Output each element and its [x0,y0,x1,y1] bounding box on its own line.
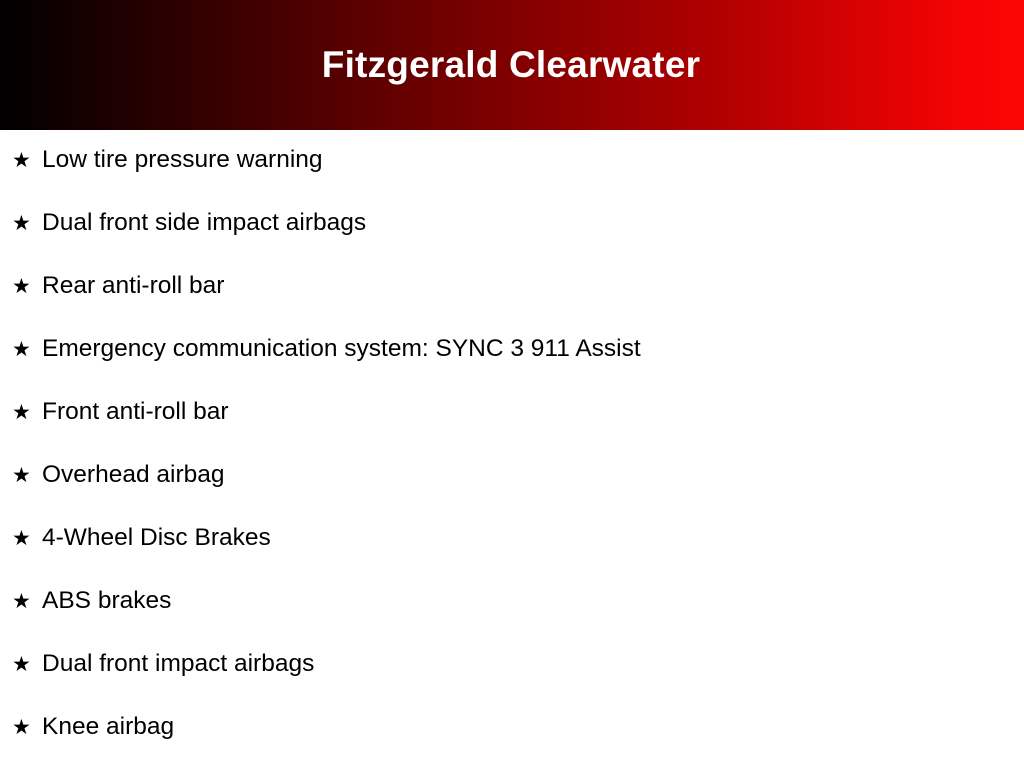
list-item: ★ Rear anti-roll bar [0,274,1024,337]
list-item: ★ Dual front impact airbags [0,652,1024,715]
feature-label: 4-Wheel Disc Brakes [42,526,271,551]
star-bullet-icon: ★ [12,528,42,549]
feature-label: ABS brakes [42,589,171,614]
slide-root: Fitzgerald Clearwater ★ Low tire pressur… [0,0,1024,768]
feature-label: Dual front impact airbags [42,652,314,677]
star-bullet-icon: ★ [12,591,42,612]
slide-header-band: Fitzgerald Clearwater [0,0,1024,130]
feature-label: Low tire pressure warning [42,148,323,173]
feature-list: ★ Low tire pressure warning ★ Dual front… [0,130,1024,768]
star-bullet-icon: ★ [12,654,42,675]
list-item: ★ 4-Wheel Disc Brakes [0,526,1024,589]
feature-label: Rear anti-roll bar [42,274,224,299]
list-item: ★ Overhead airbag [0,463,1024,526]
star-bullet-icon: ★ [12,465,42,486]
list-item: ★ Low tire pressure warning [0,130,1024,211]
feature-label: Overhead airbag [42,463,225,488]
list-item: ★ Emergency communication system: SYNC 3… [0,337,1024,400]
list-item: ★ Front anti-roll bar [0,400,1024,463]
feature-label: Dual front side impact airbags [42,211,366,236]
feature-label: Knee airbag [42,715,174,740]
star-bullet-icon: ★ [12,402,42,423]
page-title: Fitzgerald Clearwater [322,46,700,85]
star-bullet-icon: ★ [12,213,42,234]
feature-label: Emergency communication system: SYNC 3 9… [42,337,641,362]
star-bullet-icon: ★ [12,339,42,360]
feature-label: Front anti-roll bar [42,400,229,425]
star-bullet-icon: ★ [12,717,42,738]
star-bullet-icon: ★ [12,276,42,297]
list-item: ★ ABS brakes [0,589,1024,652]
star-bullet-icon: ★ [12,150,42,171]
list-item: ★ Dual front side impact airbags [0,211,1024,274]
list-item: ★ Knee airbag [0,715,1024,768]
